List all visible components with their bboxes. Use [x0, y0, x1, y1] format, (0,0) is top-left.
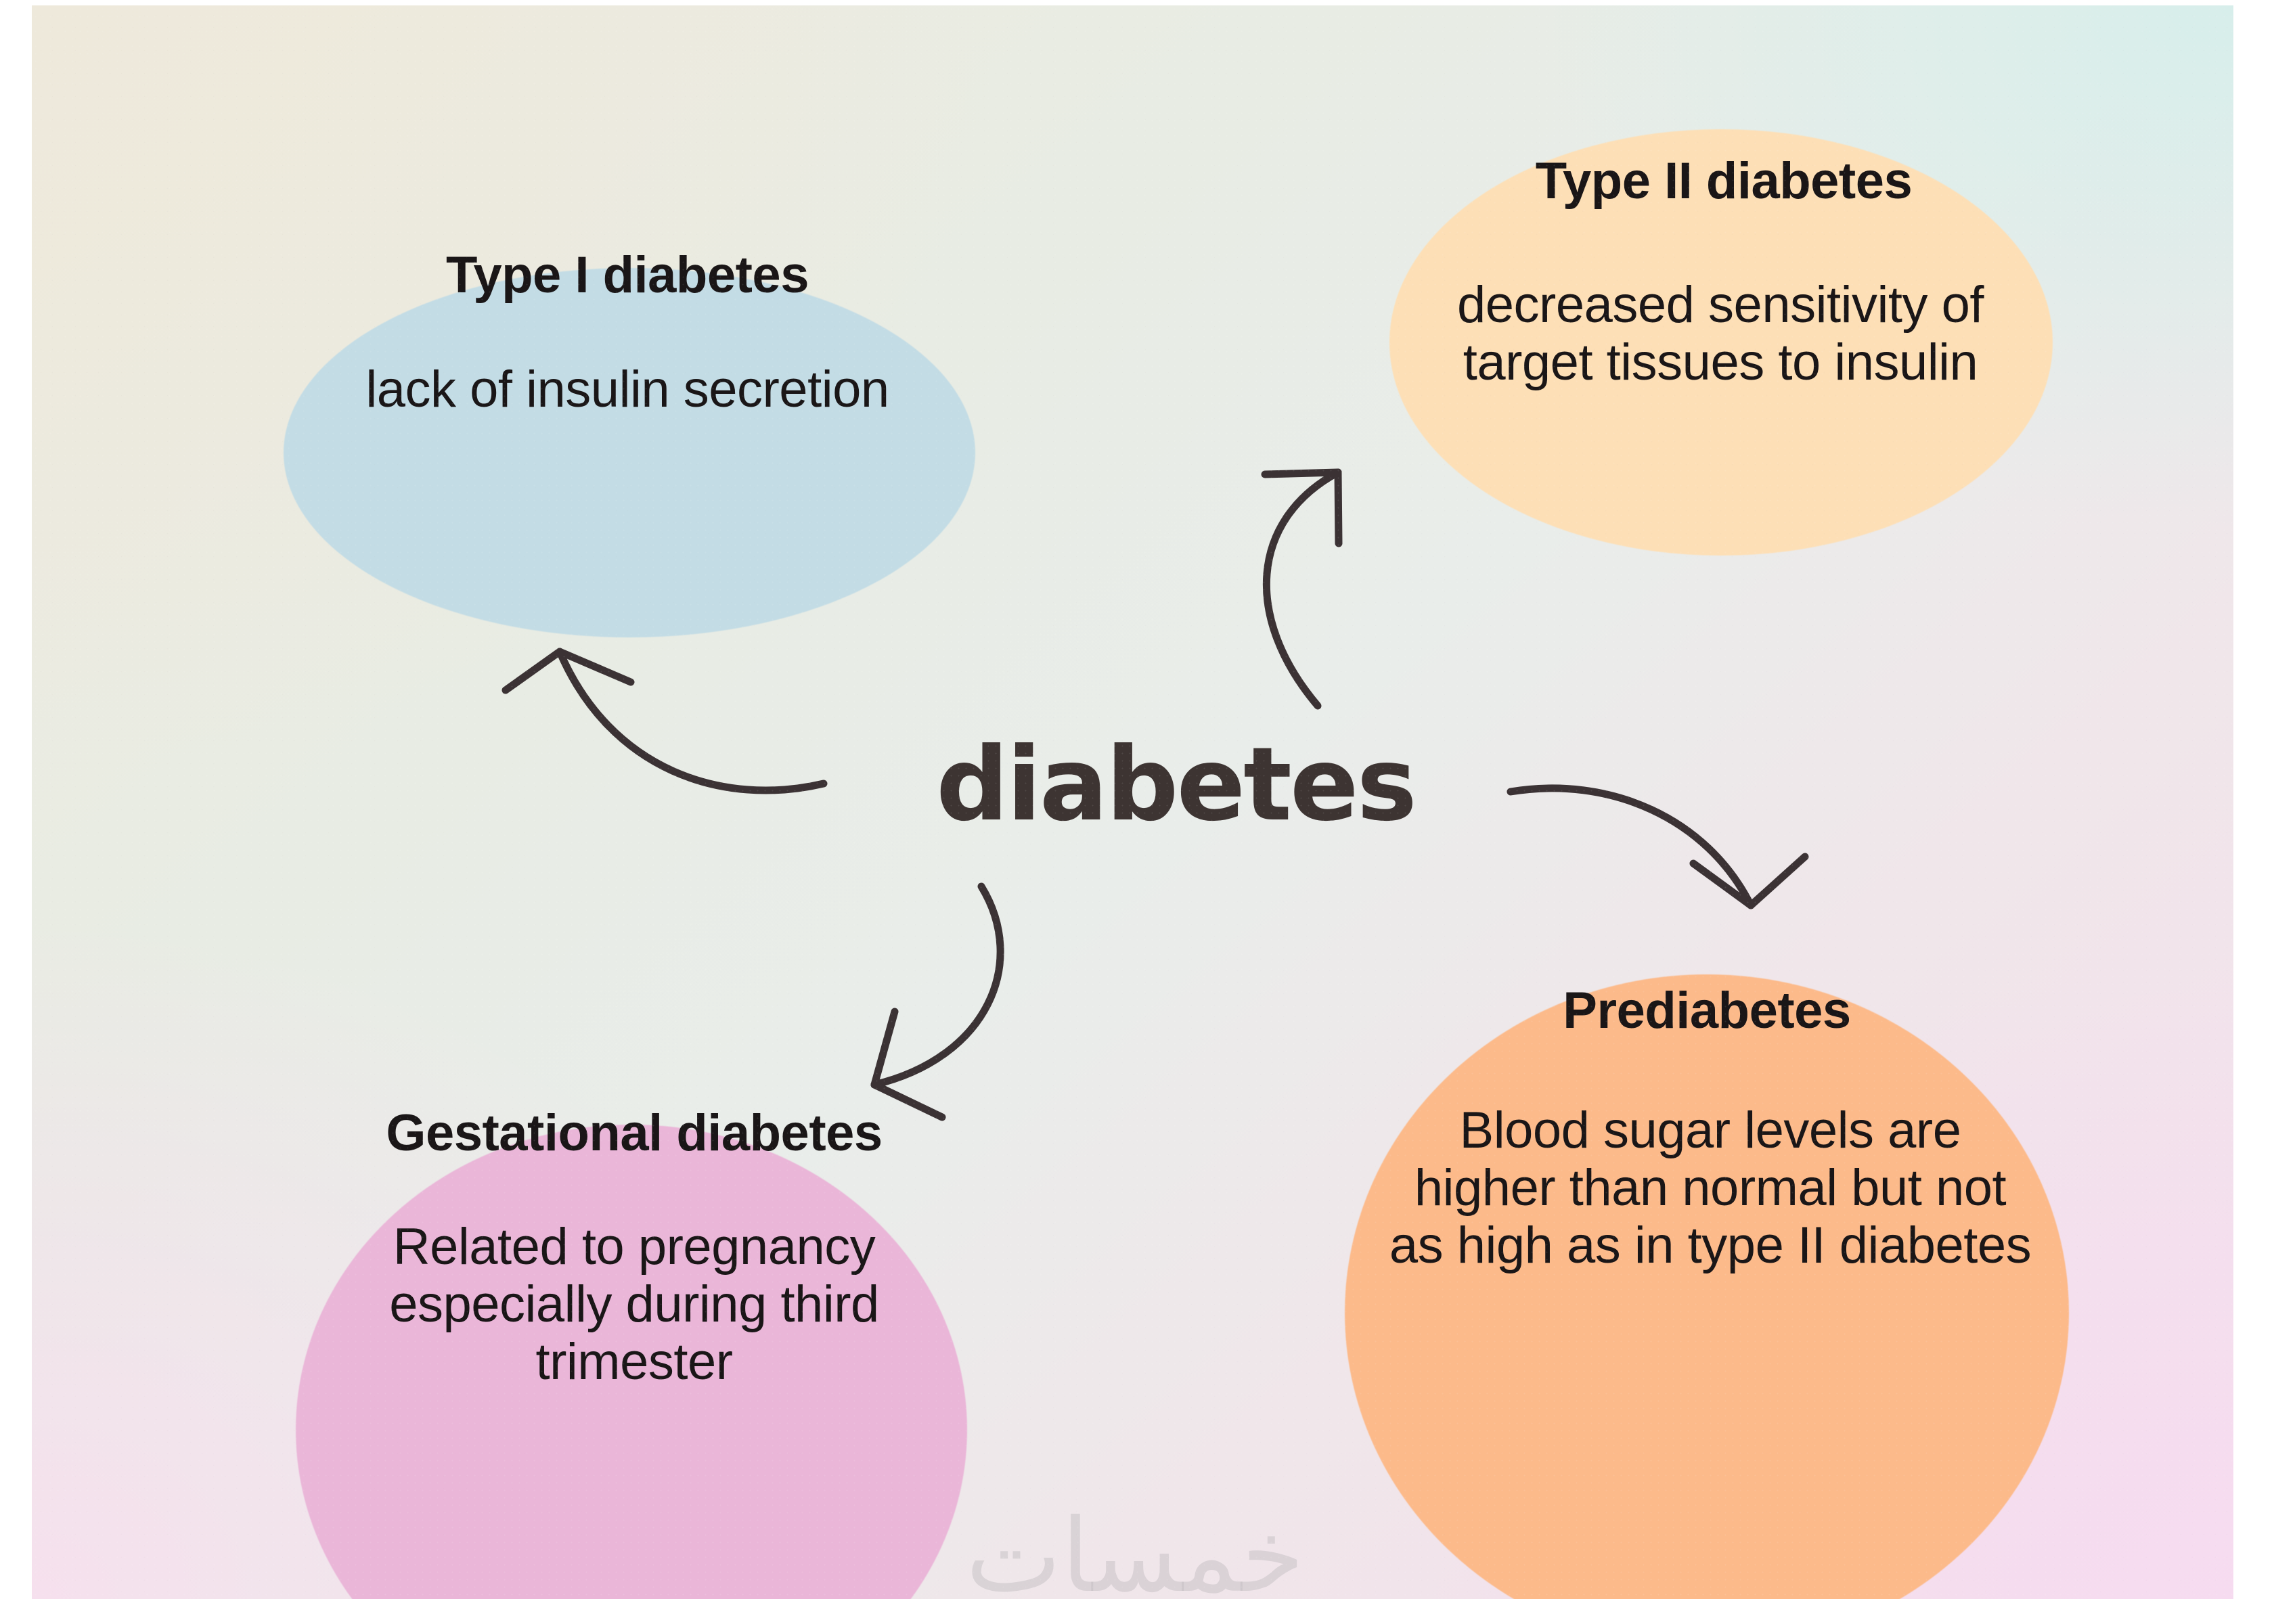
arrow-to-gestational-diabetes — [874, 886, 1000, 1117]
node-title-prediabetes: Prediabetes — [1345, 982, 2069, 1039]
node-description-gestational-diabetes: Related to pregnancy especially during t… — [275, 1218, 993, 1391]
node-title-gestational-diabetes: Gestational diabetes — [275, 1104, 993, 1162]
ellipse-prediabetes — [1345, 974, 2069, 1599]
diagram-canvas: Type I diabetes lack of insulin secretio… — [32, 5, 2233, 1599]
center-label-diabetes: diabetes — [871, 726, 1480, 844]
node-description-type-1-diabetes: lack of insulin secretion — [228, 361, 1027, 418]
node-description-type-2-diabetes: decreased sensitivity of target tissues … — [1358, 276, 2082, 391]
node-title-type-2-diabetes: Type II diabetes — [1379, 152, 2069, 210]
arrow-to-type-2-diabetes — [1265, 472, 1339, 706]
arrow-to-prediabetes — [1511, 788, 1805, 905]
node-description-prediabetes: Blood sugar levels are higher than norma… — [1243, 1102, 2177, 1274]
node-title-type-1-diabetes: Type I diabetes — [235, 246, 1020, 304]
arrow-to-type-1-diabetes — [506, 652, 824, 790]
ellipse-type-1-diabetes — [284, 268, 975, 637]
watermark-text: خمسات — [912, 1497, 1358, 1599]
